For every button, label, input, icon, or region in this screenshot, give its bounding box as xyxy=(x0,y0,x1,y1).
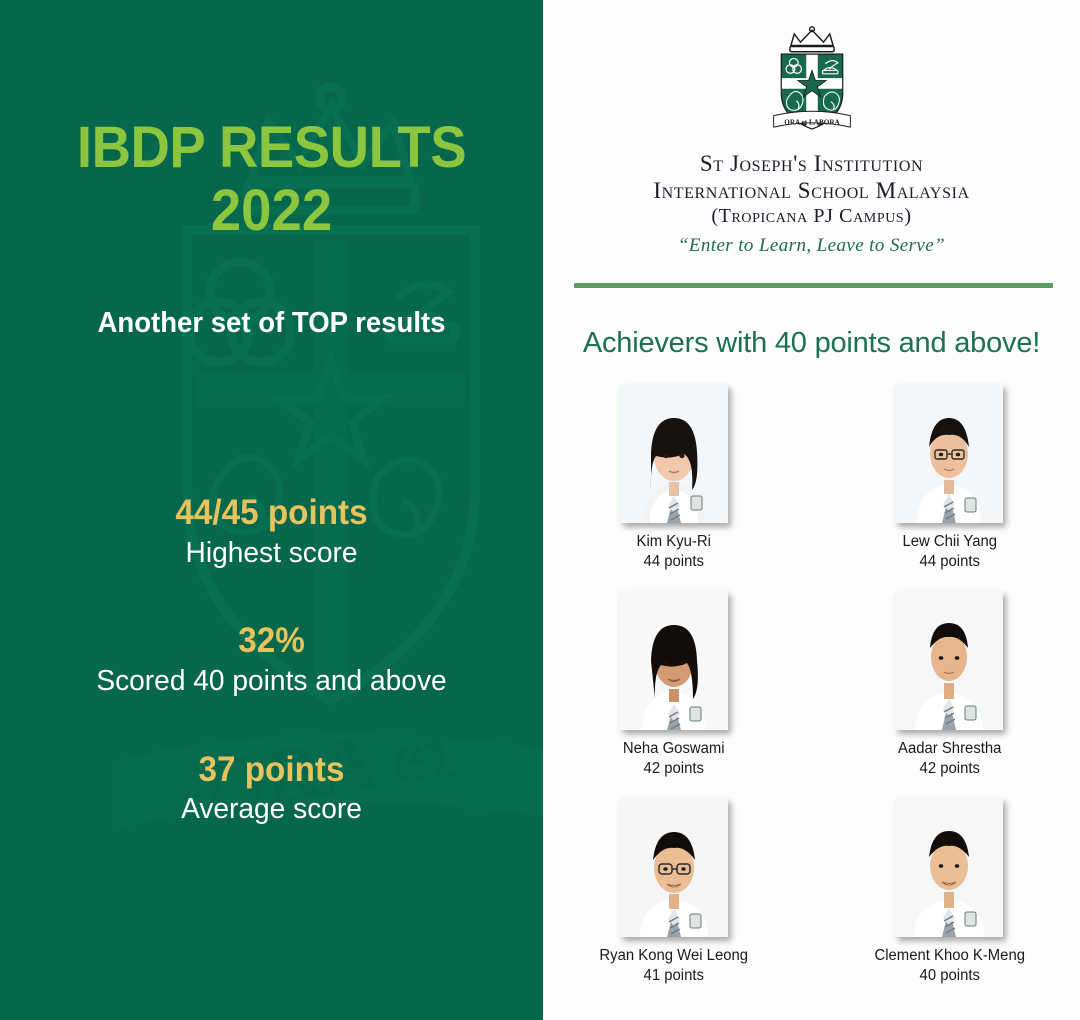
student-score: 44 points xyxy=(579,552,769,572)
stat-label: Scored 40 points and above xyxy=(8,663,535,701)
stat-value: 37 points xyxy=(14,749,530,792)
stat-item: 44/45 points Highest score xyxy=(0,492,543,572)
school-name-line-3: (Tropicana PJ Campus) xyxy=(563,205,1060,228)
student-score: 40 points xyxy=(854,966,1044,986)
school-crest-wrap: ORA et LABORA xyxy=(563,0,1060,138)
crest-banner-text: ORA et LABORA xyxy=(784,119,840,127)
student-name: Lew Chii Yang xyxy=(854,532,1044,552)
title-line-1: IBDP RESULTS xyxy=(16,118,526,177)
school-crest-icon: ORA et LABORA xyxy=(764,26,860,138)
school-name: St Joseph's Institution International Sc… xyxy=(563,151,1060,228)
student-name: Clement Khoo K-Meng xyxy=(854,946,1044,966)
student-name: Kim Kyu-Ri xyxy=(579,532,769,552)
results-stats-list: 44/45 points Highest score 32% Scored 40… xyxy=(0,492,543,829)
left-panel-content: IBDP RESULTS 2022 Another set of TOP res… xyxy=(0,0,543,1020)
student-card: Ryan Kong Wei Leong 41 points xyxy=(575,798,773,985)
stat-value: 44/45 points xyxy=(14,492,530,535)
student-name: Aadar Shrestha xyxy=(854,739,1044,759)
student-photo xyxy=(895,384,1003,523)
student-photo xyxy=(620,798,728,937)
student-name: Ryan Kong Wei Leong xyxy=(579,946,769,966)
stat-item: 37 points Average score xyxy=(0,749,543,829)
school-motto: “Enter to Learn, Leave to Serve” xyxy=(563,235,1060,257)
student-score: 44 points xyxy=(854,552,1044,572)
poster-title: IBDP RESULTS 2022 xyxy=(0,118,543,246)
achievers-grid: Kim Kyu-Ri 44 points xyxy=(563,384,1060,985)
student-card: Aadar Shrestha 42 points xyxy=(851,591,1049,778)
student-photo xyxy=(620,591,728,730)
section-divider xyxy=(574,283,1053,288)
student-card: Lew Chii Yang 44 points xyxy=(851,384,1049,571)
title-line-2: 2022 xyxy=(16,177,526,245)
student-photo xyxy=(620,384,728,523)
student-photo xyxy=(895,591,1003,730)
achievers-heading: Achievers with 40 points and above! xyxy=(563,327,1060,360)
school-name-line-1: St Joseph's Institution xyxy=(563,151,1060,178)
right-achievers-panel: ORA et LABORA St Joseph's Institution In… xyxy=(543,0,1080,1020)
student-card: Kim Kyu-Ri 44 points xyxy=(575,384,773,571)
student-score: 42 points xyxy=(854,759,1044,779)
poster-subtitle: Another set of TOP results xyxy=(14,307,530,340)
student-score: 41 points xyxy=(579,966,769,986)
school-name-line-2: International School Malaysia xyxy=(563,178,1060,205)
student-card: Clement Khoo K-Meng 40 points xyxy=(851,798,1049,985)
stat-value: 32% xyxy=(14,620,530,663)
stat-label: Highest score xyxy=(8,535,535,573)
student-photo xyxy=(895,798,1003,937)
ibdp-results-poster: ORA et IBDP RESULTS 2022 Another set of … xyxy=(0,0,1080,1020)
left-results-panel: ORA et IBDP RESULTS 2022 Another set of … xyxy=(0,0,543,1020)
stat-item: 32% Scored 40 points and above xyxy=(0,620,543,700)
student-name: Neha Goswami xyxy=(579,739,769,759)
stat-label: Average score xyxy=(8,791,535,829)
student-card: Neha Goswami 42 points xyxy=(575,591,773,778)
student-score: 42 points xyxy=(579,759,769,779)
